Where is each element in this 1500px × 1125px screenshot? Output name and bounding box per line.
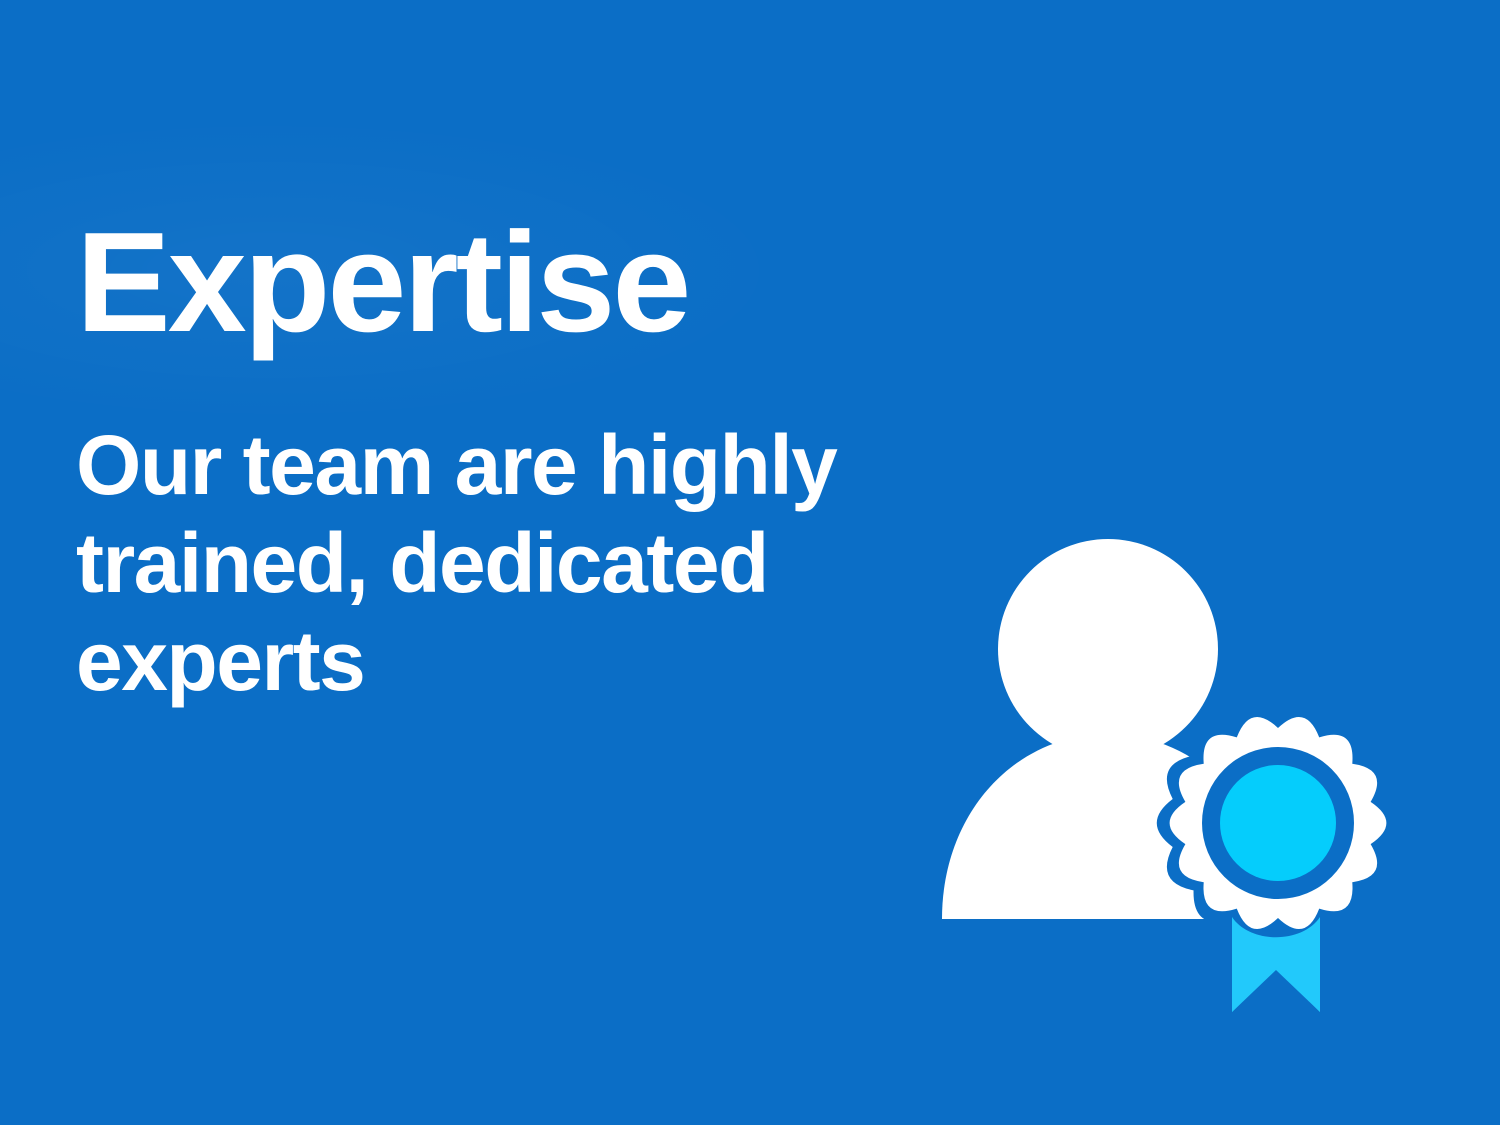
subtitle-text: Our team are highlytrained, dedicatedexp… — [76, 354, 906, 710]
subtitle-line-1: Our team are highly — [76, 418, 836, 512]
page-title: Expertise — [76, 212, 956, 354]
award-ribbon-shape — [1232, 918, 1320, 1012]
award-badge-center — [1220, 765, 1336, 881]
subtitle-line-2: trained, dedicated — [76, 516, 768, 610]
person-head — [998, 539, 1218, 759]
subtitle-line-3: experts — [76, 614, 364, 708]
slide-canvas: Expertise Our team are highlytrained, de… — [0, 0, 1500, 1125]
person-with-award-badge-icon — [920, 512, 1420, 1032]
text-block: Expertise Our team are highlytrained, de… — [76, 212, 956, 710]
